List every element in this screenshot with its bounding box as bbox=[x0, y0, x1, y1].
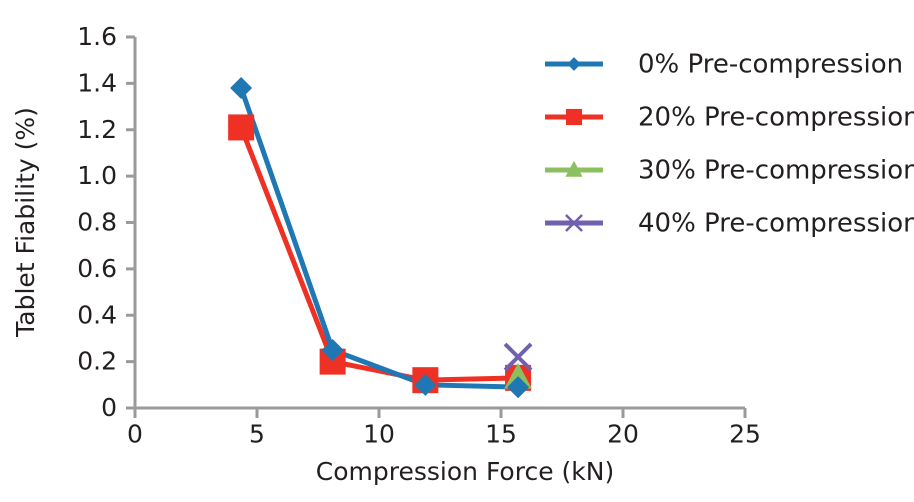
data-point-marker bbox=[230, 77, 252, 99]
y-axis-tick-labels: 00.20.40.60.81.01.21.41.6 bbox=[77, 22, 117, 422]
y-tick-label: 0 bbox=[101, 393, 117, 422]
x-tick-label: 10 bbox=[363, 419, 395, 448]
series-layer bbox=[228, 77, 532, 398]
legend-item-1[interactable]: 20% Pre-compression bbox=[545, 103, 914, 133]
legend-label: 0% Pre-compression bbox=[638, 50, 903, 80]
x-axis-group: 0510152025 bbox=[127, 408, 761, 448]
series-1 bbox=[241, 127, 518, 380]
x-tick-label: 0 bbox=[127, 419, 143, 448]
legend-item-0[interactable]: 0% Pre-compression bbox=[545, 50, 903, 80]
y-tick-label: 1.4 bbox=[77, 68, 117, 97]
y-axis-group: 00.20.40.60.81.01.21.41.6 bbox=[77, 22, 135, 422]
x-tick-label: 20 bbox=[607, 419, 639, 448]
chart-container: 00.20.40.60.81.01.21.41.6 0510152025 Com… bbox=[0, 0, 914, 502]
line-chart: 00.20.40.60.81.01.21.41.6 0510152025 Com… bbox=[0, 0, 914, 502]
legend-label: 40% Pre-compression bbox=[638, 209, 914, 239]
legend-label: 30% Pre-compression bbox=[638, 156, 914, 186]
y-tick-label: 1.0 bbox=[77, 161, 117, 190]
legend-label: 20% Pre-compression bbox=[638, 103, 914, 133]
x-axis-title: Compression Force (kN) bbox=[316, 457, 614, 486]
data-point-marker bbox=[567, 57, 581, 71]
y-axis-title: Tablet Fiability (%) bbox=[11, 107, 40, 338]
legend-item-3[interactable]: 40% Pre-compression bbox=[545, 209, 914, 239]
data-point-marker bbox=[566, 109, 582, 125]
y-tick-label: 0.2 bbox=[77, 347, 117, 376]
y-tick-label: 0.8 bbox=[77, 208, 117, 237]
y-tick-label: 1.2 bbox=[77, 115, 117, 144]
x-tick-label: 5 bbox=[249, 419, 265, 448]
y-tick-label: 0.4 bbox=[77, 300, 117, 329]
y-tick-label: 0.6 bbox=[77, 254, 117, 283]
data-point-marker bbox=[228, 114, 254, 140]
series-line bbox=[241, 127, 518, 380]
x-tick-label: 15 bbox=[485, 419, 517, 448]
y-tick-label: 1.6 bbox=[77, 22, 117, 51]
chart-legend: 0% Pre-compression20% Pre-compression30%… bbox=[545, 50, 914, 239]
x-axis-tick-labels: 0510152025 bbox=[127, 419, 761, 448]
legend-item-2[interactable]: 30% Pre-compression bbox=[545, 156, 914, 186]
x-tick-label: 25 bbox=[729, 419, 761, 448]
